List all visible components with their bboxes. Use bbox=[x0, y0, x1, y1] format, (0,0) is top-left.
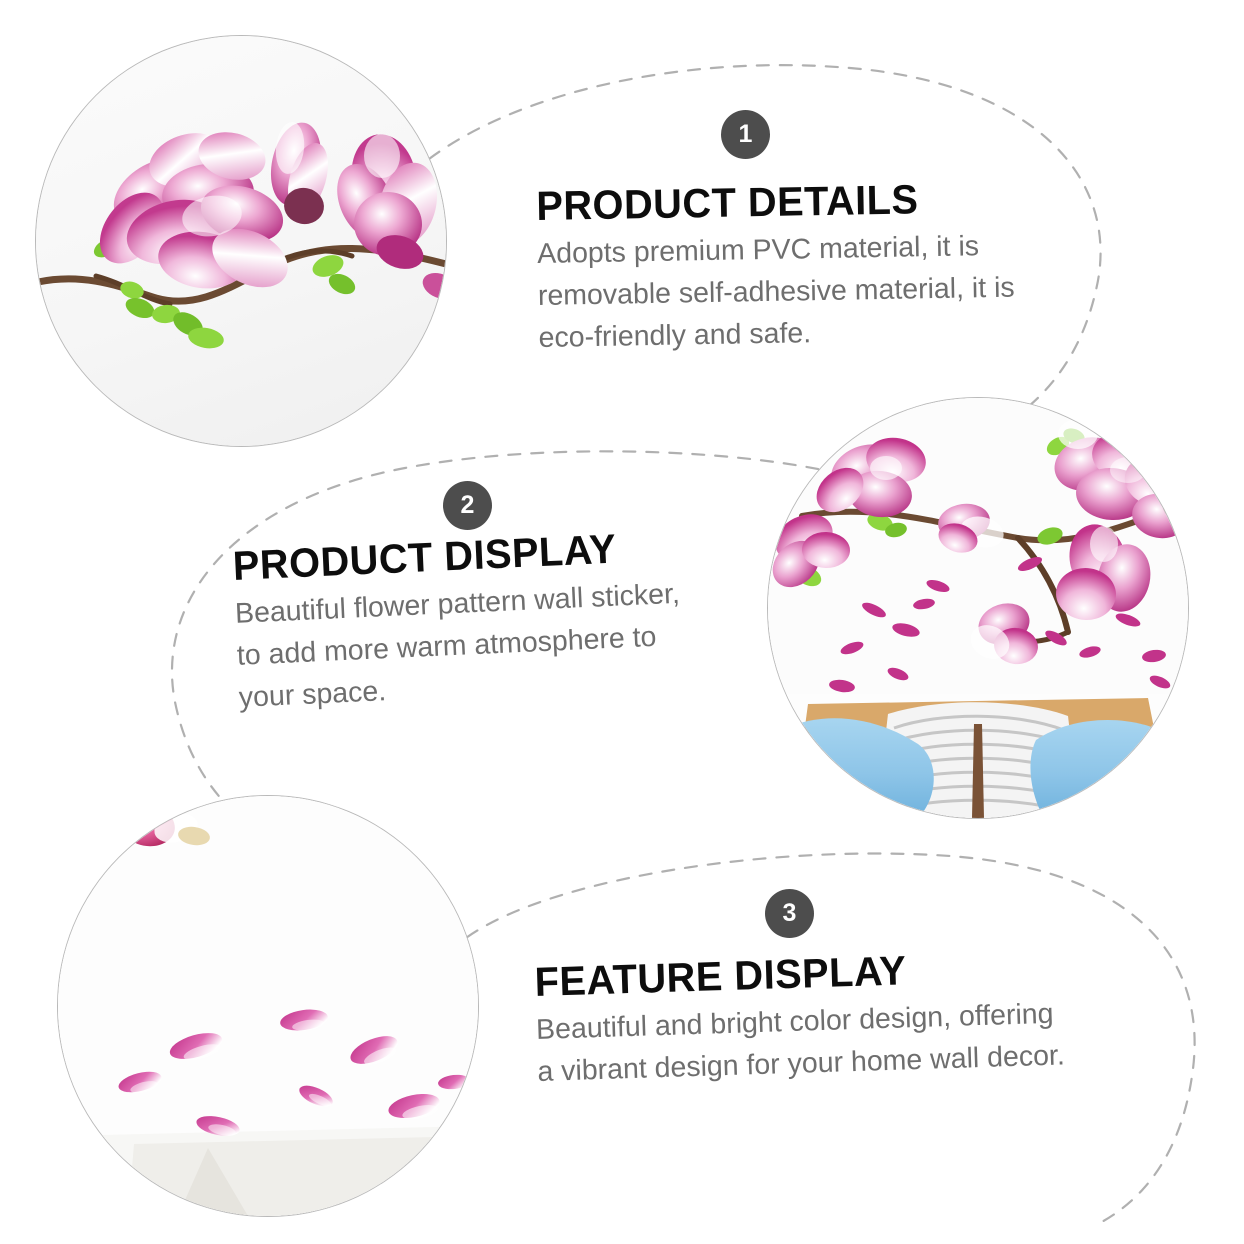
step-number-1: 1 bbox=[739, 122, 753, 147]
product-photo-scattered-petals bbox=[58, 796, 478, 1216]
product-photo-magnolia-closeup bbox=[36, 36, 446, 446]
step-badge-1: 1 bbox=[721, 110, 770, 159]
text-block-1: PRODUCT DETAILS Adopts premium PVC mater… bbox=[536, 177, 1069, 360]
step-badge-2: 2 bbox=[443, 481, 492, 530]
text-block-2: PRODUCT DISPLAY Beautiful flower pattern… bbox=[232, 525, 709, 720]
product-photo-above-bed bbox=[768, 398, 1188, 818]
text-block-3: FEATURE DISPLAY Beautiful and bright col… bbox=[534, 945, 1078, 1093]
section-body-3: Beautiful and bright color design, offer… bbox=[536, 993, 1078, 1094]
infographic-stage: 1 PRODUCT DETAILS Adopts premium PVC mat… bbox=[0, 0, 1244, 1244]
section-heading-1: PRODUCT DETAILS bbox=[536, 177, 1051, 228]
step-badge-3: 3 bbox=[765, 889, 814, 938]
section-body-2: Beautiful flower pattern wall sticker, t… bbox=[234, 572, 709, 719]
section-body-1: Adopts premium PVC material, it is remov… bbox=[537, 225, 1069, 360]
step-number-3: 3 bbox=[783, 901, 797, 926]
step-number-2: 2 bbox=[461, 493, 475, 518]
